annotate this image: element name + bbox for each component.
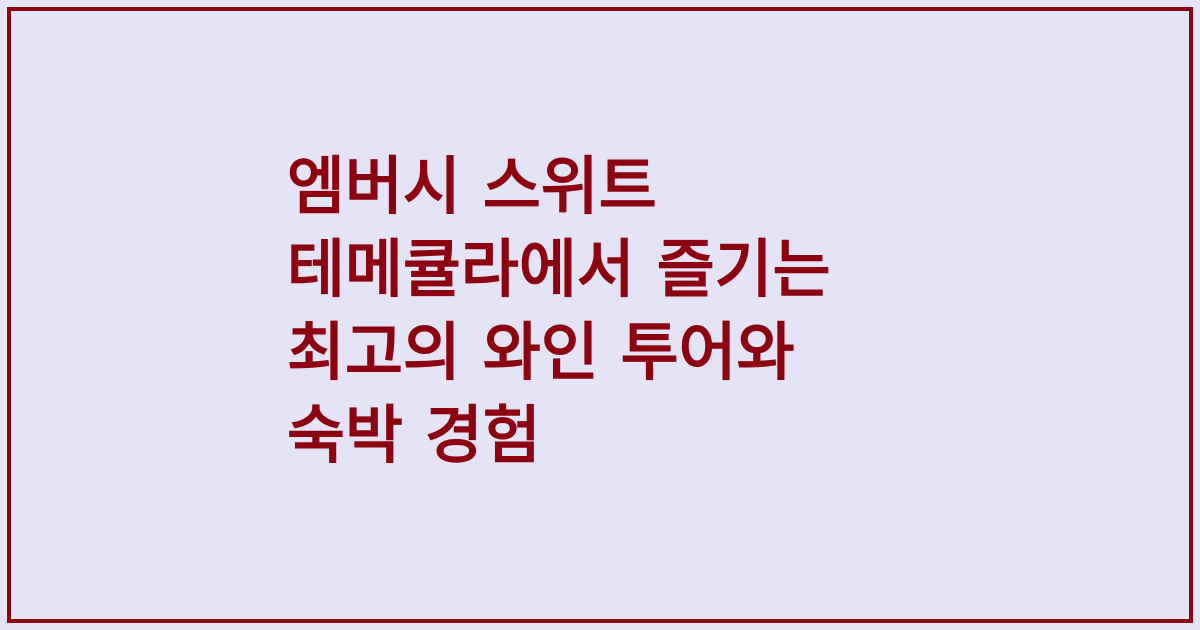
headline-line-4: 숙박 경험 <box>287 394 987 477</box>
headline: 엠버시 스위트 테메큘라에서 즐기는 최고의 와인 투어와 숙박 경험 <box>287 145 987 477</box>
card-border-frame: 엠버시 스위트 테메큘라에서 즐기는 최고의 와인 투어와 숙박 경험 <box>7 7 1193 623</box>
headline-line-3: 최고의 와인 투어와 <box>287 311 987 394</box>
headline-line-1: 엠버시 스위트 <box>287 145 987 228</box>
social-card: 엠버시 스위트 테메큘라에서 즐기는 최고의 와인 투어와 숙박 경험 <box>0 0 1200 630</box>
headline-line-2: 테메큘라에서 즐기는 <box>287 228 987 311</box>
